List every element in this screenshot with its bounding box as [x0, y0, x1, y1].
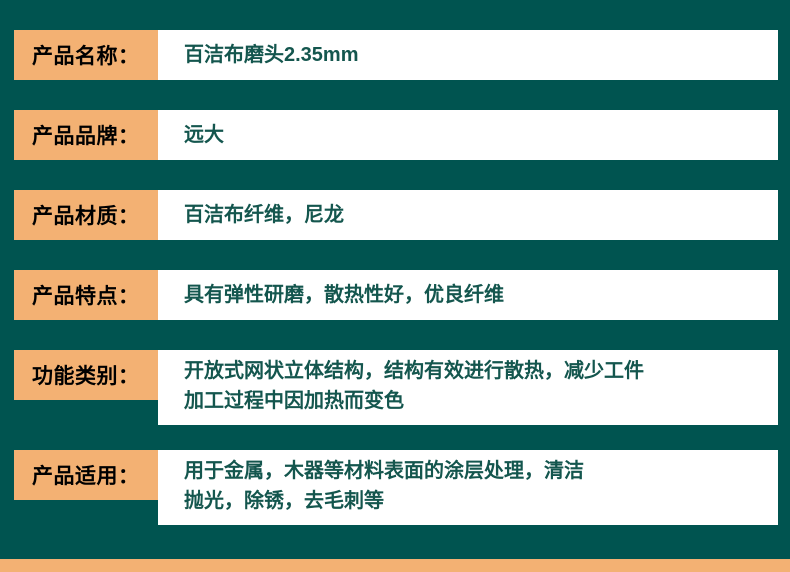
spec-row: 产品名称： 百洁布磨头2.35mm — [14, 30, 778, 80]
spec-value-line: 百洁布磨头2.35mm — [184, 40, 778, 70]
spec-value-product-material: 百洁布纤维，尼龙 — [158, 190, 778, 240]
spec-row: 产品特点： 具有弹性研磨，散热性好，优良纤维 — [14, 270, 778, 320]
spec-row: 产品材质： 百洁布纤维，尼龙 — [14, 190, 778, 240]
spec-value-line: 开放式网状立体结构，结构有效进行散热，减少工件 — [184, 356, 778, 386]
spec-row: 功能类别： 开放式网状立体结构，结构有效进行散热，减少工件 加工过程中因加热而变… — [14, 350, 778, 425]
spec-label-function-category: 功能类别： — [14, 350, 158, 400]
spec-value-product-brand: 远大 — [158, 110, 778, 160]
bottom-accent-bar — [0, 559, 790, 572]
spec-row: 产品品牌： 远大 — [14, 110, 778, 160]
spec-value-product-features: 具有弹性研磨，散热性好，优良纤维 — [158, 270, 778, 320]
spec-label-product-brand: 产品品牌： — [14, 110, 158, 160]
spec-value-function-category: 开放式网状立体结构，结构有效进行散热，减少工件 加工过程中因加热而变色 — [158, 350, 778, 425]
spec-label-product-features: 产品特点： — [14, 270, 158, 320]
spec-value-line: 抛光，除锈，去毛刺等 — [184, 486, 778, 516]
spec-value-product-application: 用于金属，木器等材料表面的涂层处理，清洁 抛光，除锈，去毛刺等 — [158, 450, 778, 525]
spec-value-line: 加工过程中因加热而变色 — [184, 386, 778, 416]
spec-label-product-application: 产品适用： — [14, 450, 158, 500]
spec-value-product-name: 百洁布磨头2.35mm — [158, 30, 778, 80]
product-spec-sheet: 产品名称： 百洁布磨头2.35mm 产品品牌： 远大 产品材质： 百洁布纤维，尼… — [0, 0, 790, 572]
spec-row: 产品适用： 用于金属，木器等材料表面的涂层处理，清洁 抛光，除锈，去毛刺等 — [14, 450, 778, 525]
spec-value-line: 远大 — [184, 120, 778, 150]
spec-value-line: 具有弹性研磨，散热性好，优良纤维 — [184, 280, 778, 310]
spec-value-line: 用于金属，木器等材料表面的涂层处理，清洁 — [184, 456, 778, 486]
spec-value-line: 百洁布纤维，尼龙 — [184, 200, 778, 230]
spec-label-product-name: 产品名称： — [14, 30, 158, 80]
spec-label-product-material: 产品材质： — [14, 190, 158, 240]
